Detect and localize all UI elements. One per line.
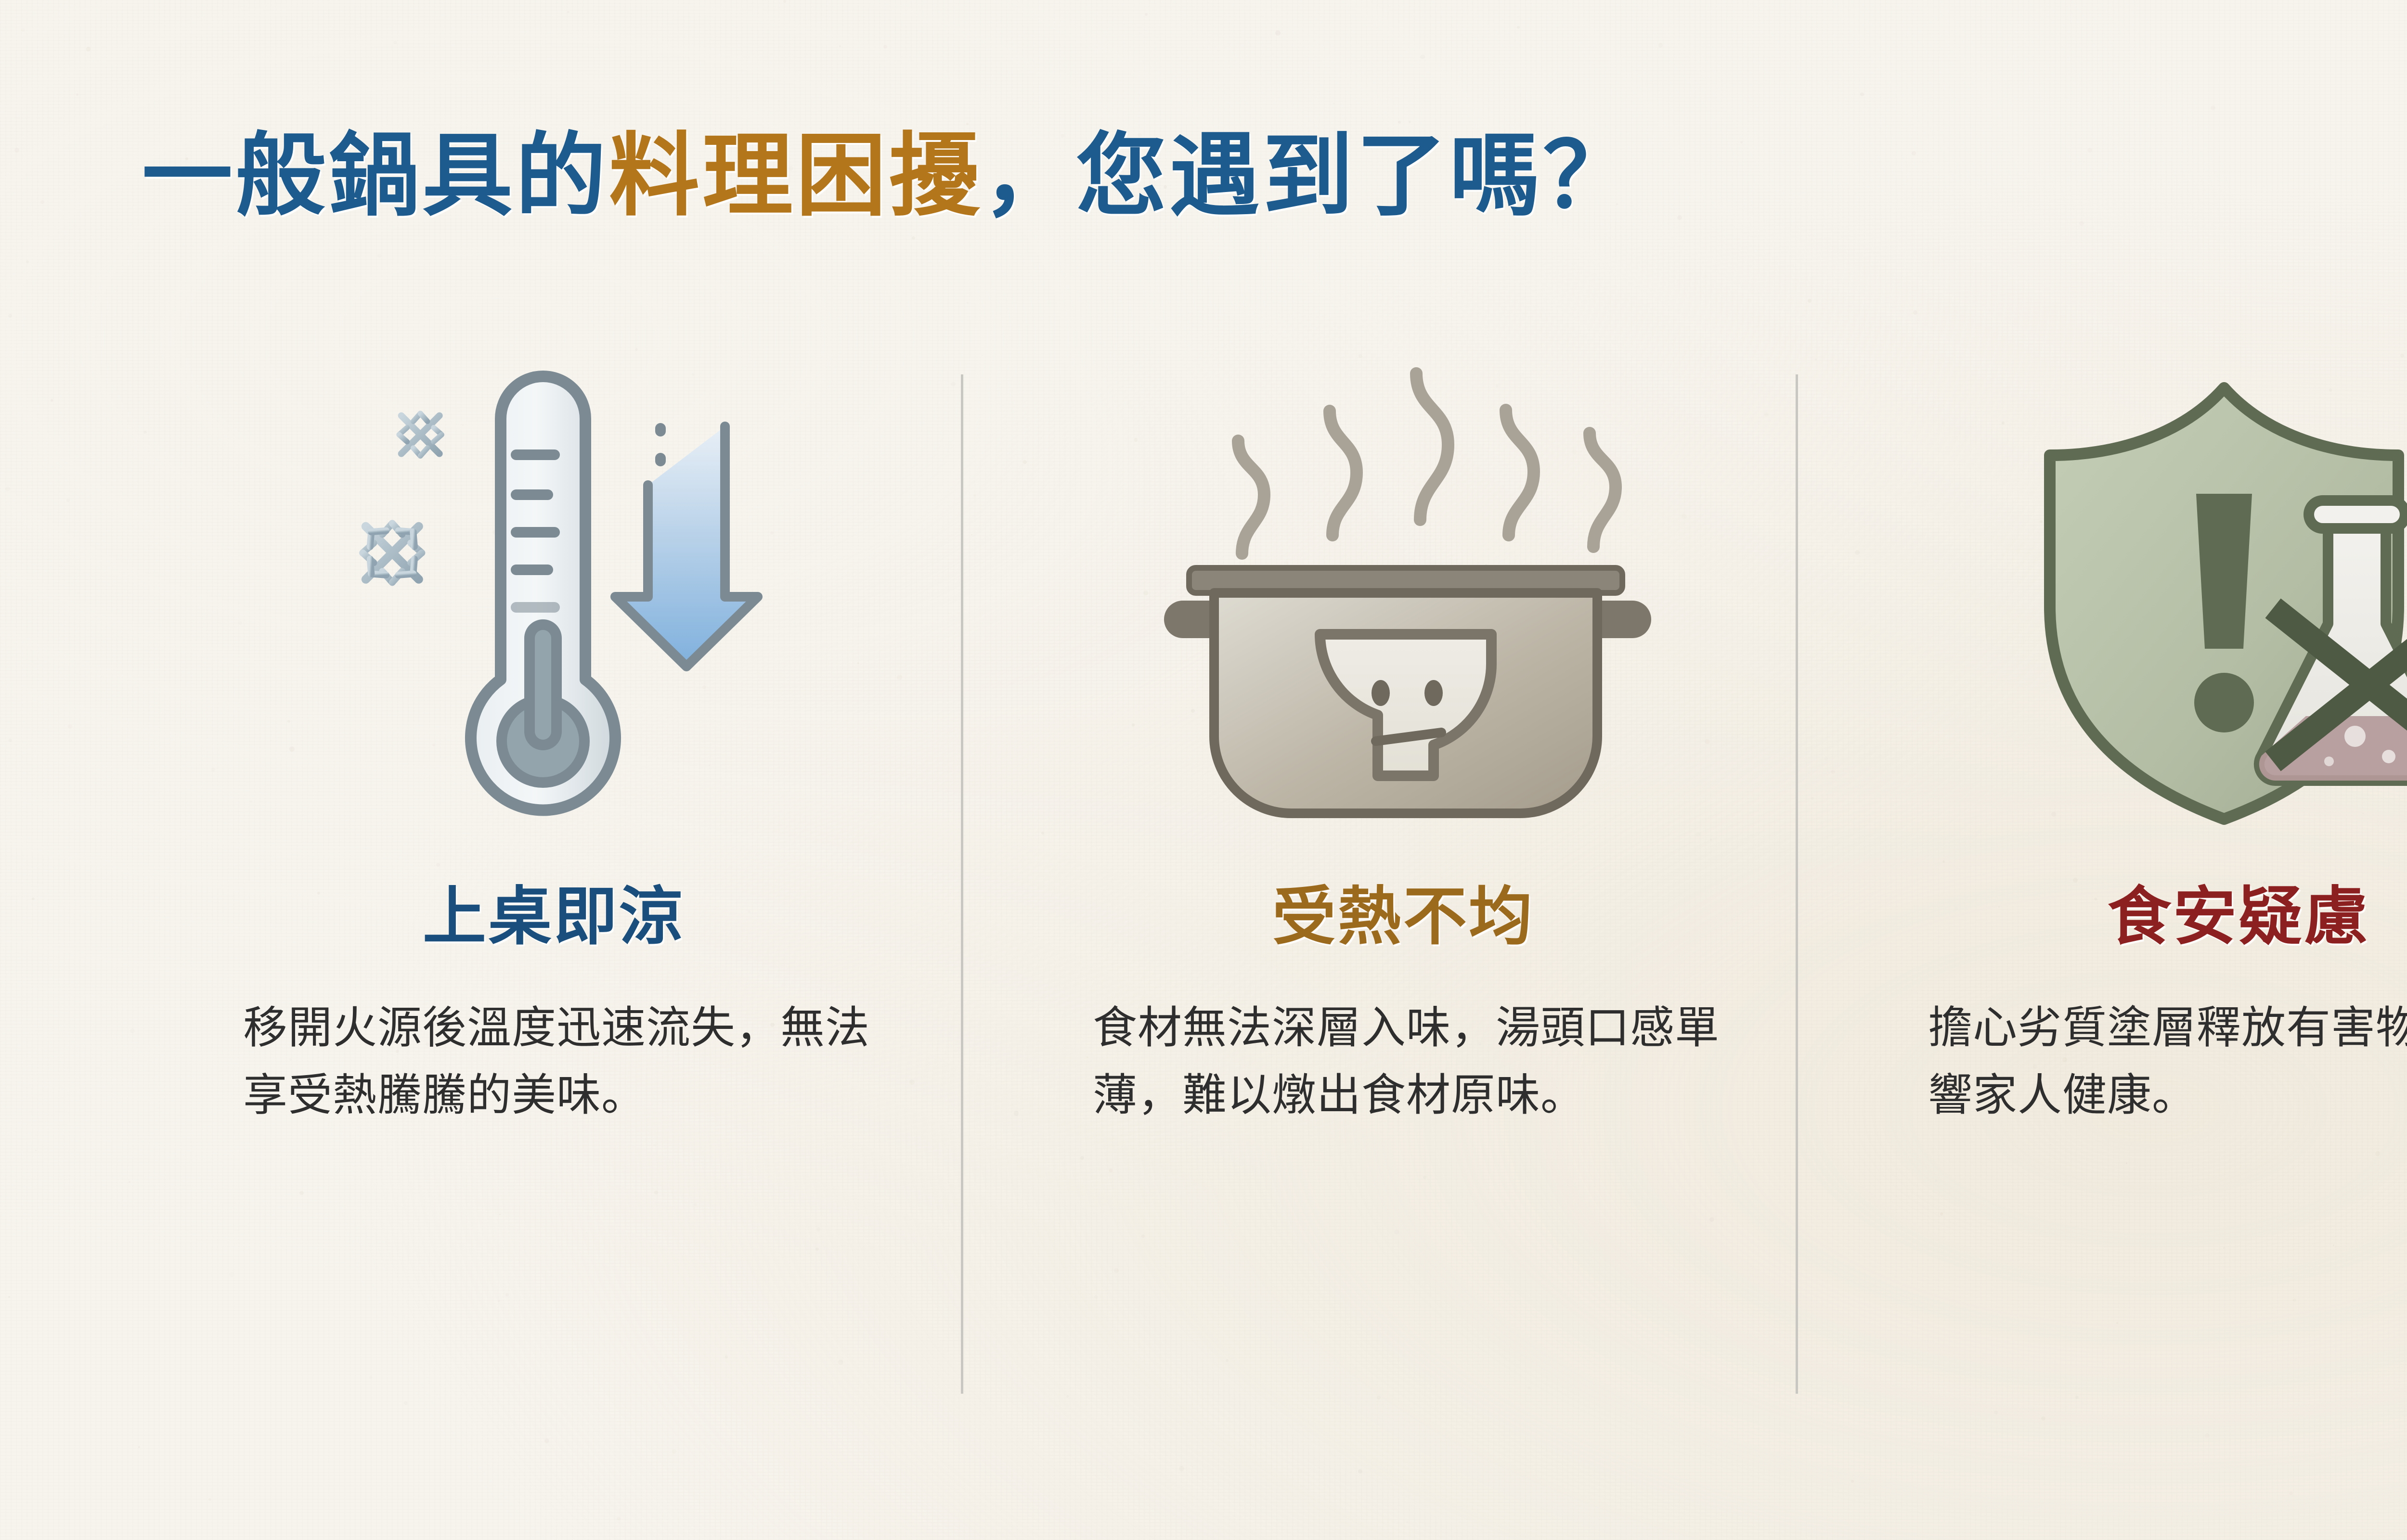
steaming-pot-icon: [994, 337, 1812, 857]
column-heading-food-safety: 食安疑慮: [1829, 865, 2407, 957]
exclamation-icon: [2194, 494, 2254, 732]
column-uneven-heat: 受熱不均 食材無法深層入味，湯頭口感單薄，難以燉出食材原味。: [994, 337, 1812, 1129]
snowflake-icon: [394, 408, 447, 461]
column-body-cold: 移開火源後溫度迅速流失，無法享受熱騰騰的美味。: [229, 995, 879, 1129]
title-part-1: 一般鍋具的: [142, 126, 609, 227]
thermometer-icon: [471, 376, 615, 810]
snowflake-icon: [355, 516, 429, 590]
bowl-eye-right: [1424, 680, 1443, 706]
shield-warning-no-chemicals-icon: [1829, 337, 2407, 857]
column-heading-cold: 上桌即涼: [144, 865, 963, 957]
thermometer-cold-icon: [144, 337, 963, 857]
column-heading-uneven-heat: 受熱不均: [994, 865, 1812, 957]
column-food-safety: 食安疑慮 擔心劣質塗層釋放有害物質，影響家人健康。: [1829, 337, 2407, 1129]
column-cold: 上桌即涼 移開火源後溫度迅速流失，無法享受熱騰騰的美味。: [144, 337, 963, 1129]
problem-columns: 上桌即涼 移開火源後溫度迅速流失，無法享受熱騰騰的美味。: [0, 337, 2407, 1420]
title-part-3: ，您遇到了嗎？: [983, 126, 1636, 227]
down-arrow-icon: [615, 426, 758, 667]
column-body-uneven-heat: 食材無法深層入味，湯頭口感單薄，難以燉出食材原味。: [1078, 995, 1728, 1129]
steam-wave-icon: [1238, 373, 1616, 553]
column-body-food-safety: 擔心劣質塗層釋放有害物質，影響家人健康。: [1914, 995, 2407, 1129]
bowl-eye-left: [1372, 680, 1390, 706]
title-part-2: 料理困擾: [609, 126, 983, 227]
page-title: 一般鍋具的料理困擾，您遇到了嗎？: [142, 129, 1636, 224]
